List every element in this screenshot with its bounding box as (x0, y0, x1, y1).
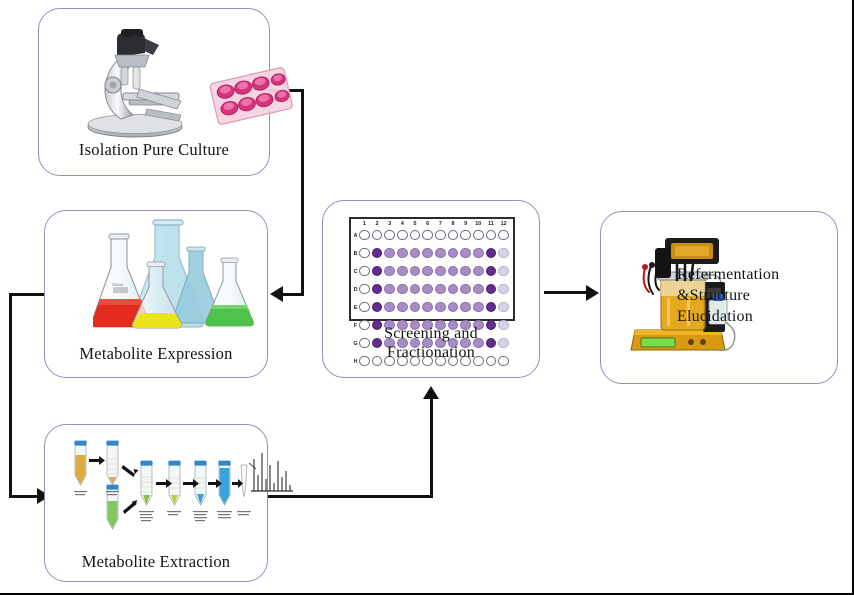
96-well-microplate: 1 2 3 4 5 6 7 8 9 10 11 12 ABCDEFGH (349, 217, 515, 321)
microplate-well[interactable] (409, 227, 422, 245)
node-refermentation-label-line3: Elucidation (677, 308, 753, 325)
microplate-row: B (353, 245, 510, 263)
microplate-well[interactable] (421, 263, 434, 281)
well-B6 (422, 248, 433, 259)
well-B9 (460, 248, 471, 259)
node-isolation-pure-culture[interactable]: Isolation Pure Culture (38, 8, 270, 176)
microplate-well[interactable] (421, 227, 434, 245)
well-A12 (498, 230, 509, 241)
microplate-well[interactable] (383, 263, 396, 281)
microplate-well[interactable] (472, 299, 485, 317)
edge-extraction-screening-v (430, 398, 433, 498)
node-isolation-label: Isolation Pure Culture (39, 140, 269, 159)
microplate-well[interactable] (497, 227, 510, 245)
well-C12 (498, 266, 509, 277)
microplate-row: E (353, 299, 510, 317)
microplate-well[interactable] (371, 281, 384, 299)
microplate-well[interactable] (409, 245, 422, 263)
well-C7 (435, 266, 446, 277)
well-A11 (486, 230, 497, 241)
microplate-well[interactable] (396, 245, 409, 263)
edge-isolation-expression-v (301, 89, 304, 295)
microplate-well[interactable] (383, 245, 396, 263)
arrowhead-to-expression (270, 286, 283, 302)
well-C3 (384, 266, 395, 277)
edge-screening-refermentation (544, 291, 588, 294)
well-D11 (486, 284, 497, 295)
microplate-well[interactable] (371, 227, 384, 245)
node-metabolite-expression[interactable]: 250ml Metabolite Expression (44, 210, 268, 378)
microscope-icon (77, 23, 203, 141)
well-E2 (372, 302, 383, 313)
microplate-well[interactable] (409, 263, 422, 281)
microplate-well[interactable] (485, 227, 498, 245)
well-E4 (397, 302, 408, 313)
microplate-well[interactable] (472, 245, 485, 263)
well-A8 (448, 230, 459, 241)
well-D10 (473, 284, 484, 295)
well-E9 (460, 302, 471, 313)
edge-expression-extraction-h1 (9, 293, 45, 296)
microplate-well[interactable] (447, 227, 460, 245)
arrowhead-to-refermentation (586, 285, 599, 301)
well-D6 (422, 284, 433, 295)
well-B7 (435, 248, 446, 259)
microplate-well[interactable] (447, 245, 460, 263)
microplate-well[interactable] (421, 245, 434, 263)
well-E10 (473, 302, 484, 313)
node-screening-label-line1: Screening and (384, 325, 478, 342)
node-refermentation-structure-elucidation[interactable]: Refermentation &Structure Elucidation (600, 211, 838, 384)
extraction-workflow-icon (61, 435, 257, 535)
well-B8 (448, 248, 459, 259)
well-A7 (435, 230, 446, 241)
well-A9 (460, 230, 471, 241)
node-refermentation-label-line2: &Structure (677, 287, 750, 304)
well-D1 (359, 284, 370, 295)
node-metabolite-extraction[interactable]: Metabolite Extraction (44, 424, 268, 582)
well-C1 (359, 266, 370, 277)
well-B11 (486, 248, 497, 259)
workflow-diagram: Isolation Pure Culture (0, 0, 854, 595)
microplate-well[interactable] (485, 299, 498, 317)
well-B5 (410, 248, 421, 259)
well-C8 (448, 266, 459, 277)
well-B4 (397, 248, 408, 259)
well-E6 (422, 302, 433, 313)
microplate-well[interactable] (434, 245, 447, 263)
svg-text:250ml: 250ml (112, 282, 123, 287)
well-C11 (486, 266, 497, 277)
well-B12 (498, 248, 509, 259)
microplate-well[interactable] (485, 263, 498, 281)
microplate-well[interactable] (383, 227, 396, 245)
microplate-well[interactable] (409, 299, 422, 317)
node-expression-label: Metabolite Expression (45, 344, 267, 363)
microplate-well[interactable] (447, 281, 460, 299)
microplate-well[interactable] (497, 299, 510, 317)
well-C2 (372, 266, 383, 277)
microplate-well[interactable] (396, 299, 409, 317)
well-E8 (448, 302, 459, 313)
microplate-well[interactable] (371, 245, 384, 263)
well-E1 (359, 302, 370, 313)
microplate-row: A (353, 227, 510, 245)
microplate-well[interactable] (434, 299, 447, 317)
well-A3 (384, 230, 395, 241)
microplate-well[interactable] (459, 263, 472, 281)
microplate-well[interactable] (421, 281, 434, 299)
well-C5 (410, 266, 421, 277)
microplate-well[interactable] (447, 263, 460, 281)
microplate-well[interactable] (371, 299, 384, 317)
well-D5 (410, 284, 421, 295)
edge-expression-extraction-h2 (9, 495, 39, 498)
microplate-well[interactable] (472, 227, 485, 245)
microplate-well[interactable] (396, 281, 409, 299)
node-screening-label: Screening and Fractionation (323, 325, 539, 363)
well-D9 (460, 284, 471, 295)
node-screening-fractionation[interactable]: 1 2 3 4 5 6 7 8 9 10 11 12 ABCDEFGH (322, 200, 540, 378)
microplate-well[interactable] (358, 281, 371, 299)
well-D4 (397, 284, 408, 295)
well-D12 (498, 284, 509, 295)
well-A10 (473, 230, 484, 241)
node-screening-label-line2: Fractionation (387, 344, 475, 361)
microplate-well[interactable] (497, 281, 510, 299)
well-B10 (473, 248, 484, 259)
microplate-well[interactable] (358, 227, 371, 245)
microplate-row: C (353, 263, 510, 281)
microplate-well[interactable] (447, 299, 460, 317)
node-extraction-label: Metabolite Extraction (45, 552, 267, 571)
microplate-well[interactable] (459, 281, 472, 299)
well-B1 (359, 248, 370, 259)
arrowhead-to-screening (423, 386, 439, 399)
well-D2 (372, 284, 383, 295)
well-A6 (422, 230, 433, 241)
microplate-well[interactable] (434, 263, 447, 281)
microplate-row: D (353, 281, 510, 299)
microplate-well[interactable] (459, 299, 472, 317)
six-well-plate-icon (207, 65, 295, 125)
microplate-well[interactable] (396, 227, 409, 245)
well-E11 (486, 302, 497, 313)
microplate-well[interactable] (421, 299, 434, 317)
well-E3 (384, 302, 395, 313)
well-A2 (372, 230, 383, 241)
microplate-well[interactable] (472, 263, 485, 281)
microplate-well[interactable] (383, 299, 396, 317)
well-C10 (473, 266, 484, 277)
node-refermentation-label-line1: Refermentation (677, 266, 779, 283)
microplate-well[interactable] (358, 263, 371, 281)
well-C6 (422, 266, 433, 277)
microplate-well[interactable] (434, 281, 447, 299)
well-A5 (410, 230, 421, 241)
microplate-well[interactable] (358, 299, 371, 317)
well-E7 (435, 302, 446, 313)
microplate-well[interactable] (459, 245, 472, 263)
edge-extraction-screening-h (268, 495, 433, 498)
microplate-well[interactable] (396, 263, 409, 281)
microplate-well[interactable] (472, 281, 485, 299)
well-E12 (498, 302, 509, 313)
well-C4 (397, 266, 408, 277)
mass-spectrum-icon (250, 449, 294, 495)
edge-isolation-expression-h2 (283, 293, 304, 296)
microplate-well[interactable] (497, 245, 510, 263)
well-A4 (397, 230, 408, 241)
microplate-well[interactable] (383, 281, 396, 299)
well-D8 (448, 284, 459, 295)
well-E5 (410, 302, 421, 313)
microplate-well[interactable] (358, 245, 371, 263)
microplate-well[interactable] (497, 263, 510, 281)
microplate-well[interactable] (409, 281, 422, 299)
microplate-well[interactable] (434, 227, 447, 245)
well-D3 (384, 284, 395, 295)
edge-expression-extraction-v (9, 293, 12, 498)
well-C9 (460, 266, 471, 277)
node-refermentation-label: Refermentation &Structure Elucidation (677, 265, 825, 327)
well-D7 (435, 284, 446, 295)
microplate-well[interactable] (485, 245, 498, 263)
microplate-well[interactable] (459, 227, 472, 245)
erlenmeyer-flasks-icon: 250ml (93, 217, 263, 337)
well-A1 (359, 230, 370, 241)
microplate-well[interactable] (485, 281, 498, 299)
well-B3 (384, 248, 395, 259)
well-B2 (372, 248, 383, 259)
microplate-well[interactable] (371, 263, 384, 281)
